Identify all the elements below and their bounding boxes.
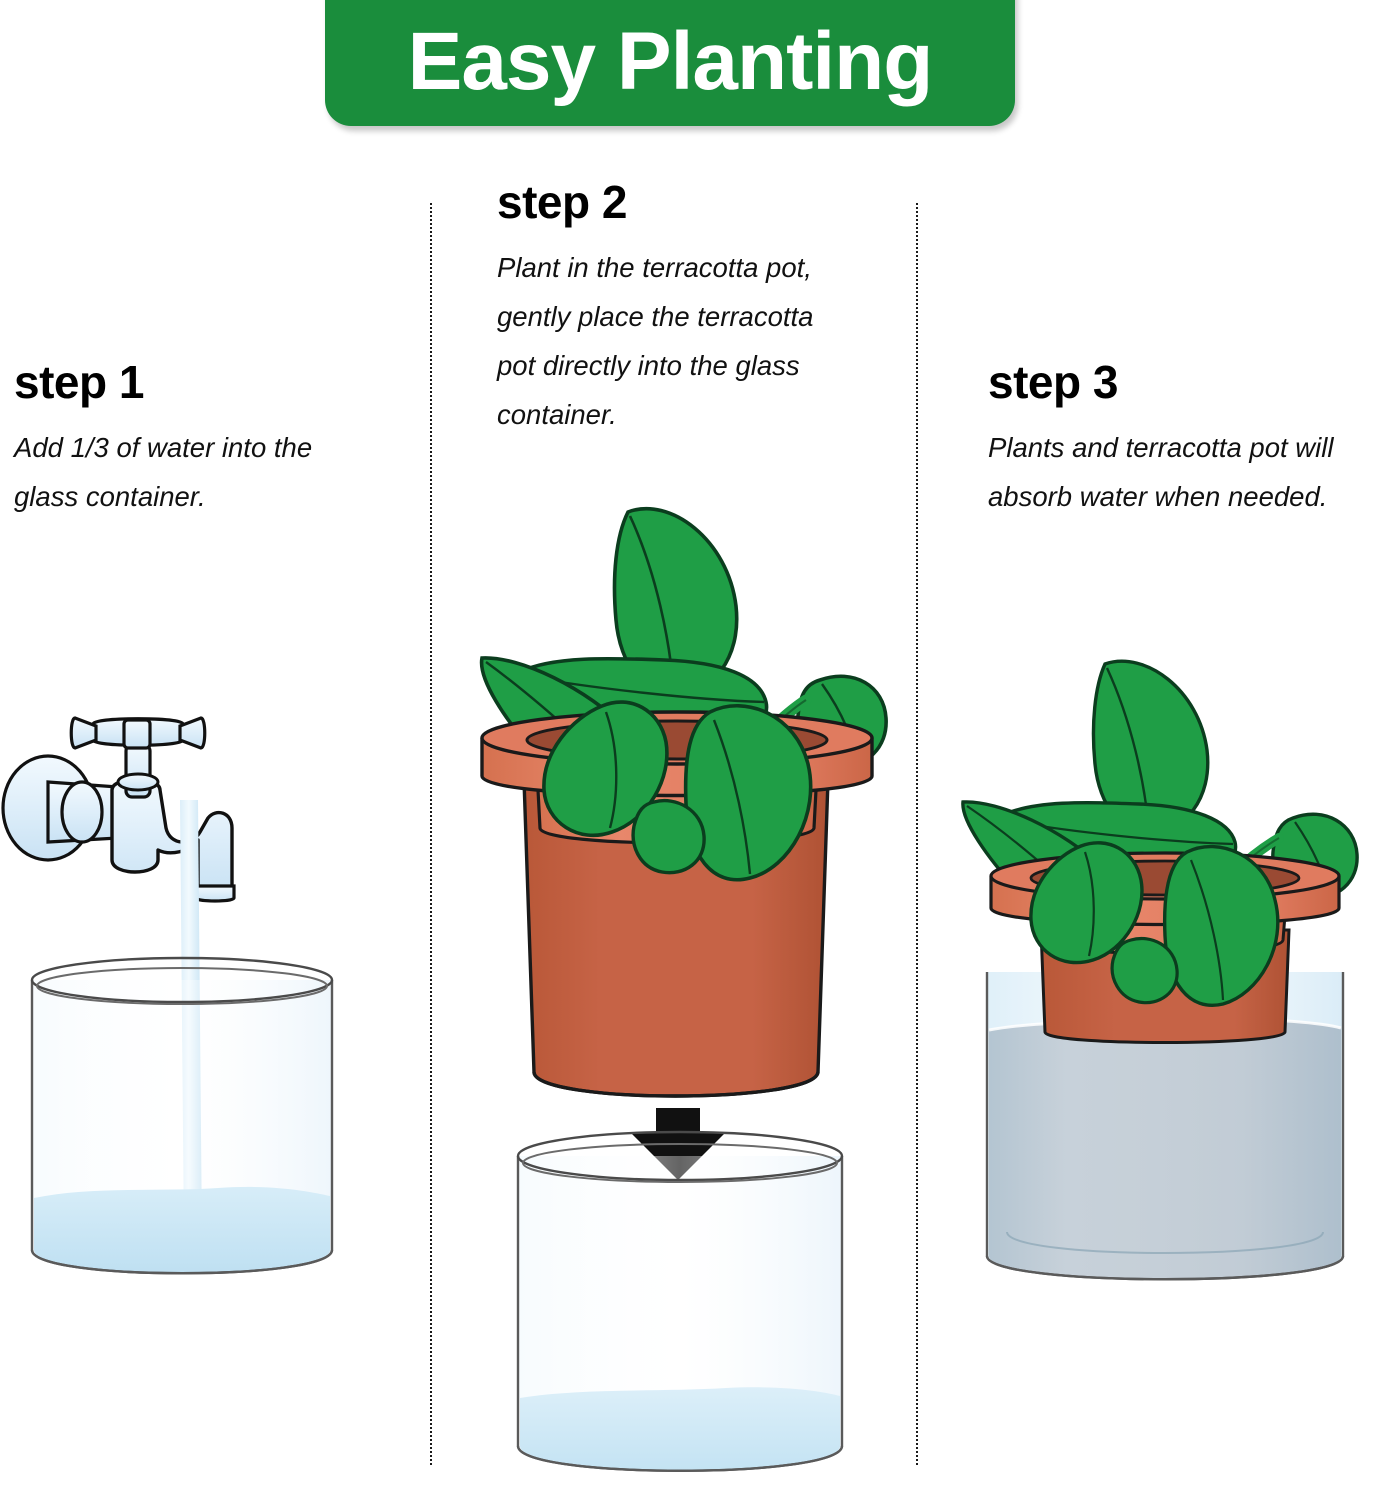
step-2-body: Plant in the terracotta pot, gently plac… xyxy=(497,244,857,440)
column-divider-1 xyxy=(430,203,432,1465)
step-2-heading: step 2 xyxy=(497,178,857,226)
potted-plant-in-glass-step-3 xyxy=(945,640,1385,1320)
column-divider-2 xyxy=(916,203,918,1465)
glass-container-step-1 xyxy=(12,940,352,1300)
faucet-icon xyxy=(0,690,260,950)
terracotta-pot xyxy=(482,712,872,1096)
water-level xyxy=(989,1019,1341,1278)
water-level xyxy=(34,1187,330,1273)
step-1-heading: step 1 xyxy=(14,358,364,406)
title-banner: Easy Planting xyxy=(325,0,1015,126)
page-title: Easy Planting xyxy=(408,11,933,103)
step-3-body: Plants and terracotta pot will absorb wa… xyxy=(988,424,1348,522)
infographic-page: Easy Planting step 1 Add 1/3 of water in… xyxy=(0,0,1387,1500)
step-3-heading: step 3 xyxy=(988,358,1348,406)
glass-container-step-2 xyxy=(500,1130,860,1500)
step-1-body: Add 1/3 of water into the glass containe… xyxy=(14,424,364,522)
step-2-column: step 2 Plant in the terracotta pot, gent… xyxy=(497,178,857,440)
step-1-column: step 1 Add 1/3 of water into the glass c… xyxy=(14,358,364,522)
step-3-column: step 3 Plants and terracotta pot will ab… xyxy=(988,358,1348,522)
potted-plant-step-2 xyxy=(460,480,900,1170)
water-level xyxy=(520,1387,840,1470)
